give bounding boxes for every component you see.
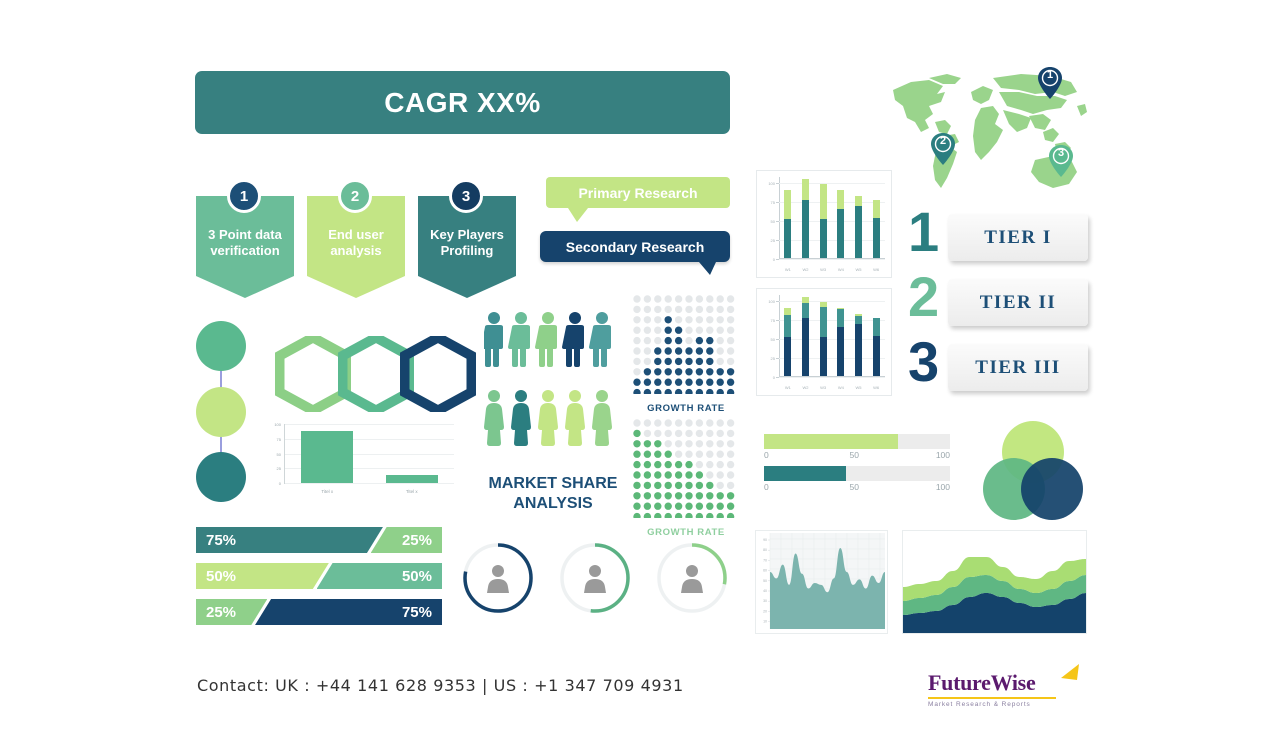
percent-row-1: 75% 25% (196, 527, 442, 553)
growth-dot-off (717, 471, 724, 478)
growth-dot-on (675, 337, 682, 344)
growth-dot-on (644, 492, 651, 499)
growth-dot-off (717, 482, 724, 489)
growth-dot-on (717, 368, 724, 375)
stacked-bar-chart-top: 0255075100W1W2W3W4W5W6 (756, 170, 892, 278)
tier-label-2: TIER II (980, 292, 1057, 314)
chart-bar-segment (855, 196, 862, 206)
donut-gauge-3 (652, 538, 732, 618)
growth-dot-off (706, 316, 713, 323)
growth-dot-on (675, 461, 682, 468)
step-card-1[interactable]: 1 3 Point data verification (196, 196, 294, 298)
chart-x-label: W6 (865, 385, 887, 390)
chart-gridline (779, 202, 885, 203)
growth-dot-on (706, 482, 713, 489)
map-pin-1[interactable]: 1 (1037, 66, 1063, 100)
chart-bar-segment (802, 303, 809, 317)
chart-y-axis (779, 177, 780, 259)
growth-rate-matrix-navy: GROWTH RATE (632, 294, 740, 414)
growth-dot-on (665, 379, 672, 386)
area-chart-stacked (902, 530, 1087, 634)
growth-dot-off (696, 419, 703, 426)
percent-row-2: 50% 50% (196, 563, 442, 589)
chart-y-label: 100 (758, 181, 775, 186)
svg-text:10: 10 (763, 620, 767, 624)
growth-dot-on (633, 492, 640, 499)
cagr-banner-title: CAGR XX% (384, 87, 540, 119)
growth-dot-off (727, 327, 734, 334)
growth-dot-on (696, 482, 703, 489)
scale-bar-2[interactable]: 0 50 100 (764, 466, 950, 495)
svg-text:20: 20 (763, 609, 767, 613)
growth-dot-off (727, 430, 734, 437)
world-map: 1 2 3 (885, 62, 1090, 197)
chart-bar-segment (784, 219, 791, 258)
growth-dot-off (696, 327, 703, 334)
chart-bar-segment (873, 336, 880, 376)
mini-chart-y-label: 0 (259, 481, 281, 486)
growth-dot-on (696, 337, 703, 344)
growth-dot-on (675, 389, 682, 394)
growth-dot-on (727, 513, 734, 518)
chart-bar-segment (820, 307, 827, 337)
growth-dot-off (727, 337, 734, 344)
growth-dot-on (633, 482, 640, 489)
chart-gridline (779, 320, 885, 321)
map-pin-number: 3 (1048, 147, 1074, 159)
growth-dot-off (654, 430, 661, 437)
growth-dot-off (665, 419, 672, 426)
scale-bar-1-tick-50: 50 (850, 450, 859, 460)
chain-circle-3 (196, 452, 246, 502)
stacked-bar-chart-top-plot: 0255075100W1W2W3W4W5W6 (779, 177, 885, 259)
growth-dot-off (665, 440, 672, 447)
donut-ring (458, 538, 538, 618)
growth-dot-on (665, 337, 672, 344)
growth-dot-on (696, 492, 703, 499)
tier-number-3: 3 (908, 334, 939, 390)
growth-dot-off (717, 419, 724, 426)
growth-dot-on (675, 358, 682, 365)
chart-bar (784, 308, 791, 376)
growth-dot-on (644, 440, 651, 447)
tier-row-2[interactable]: 2 TIER II (908, 279, 1088, 326)
person-icon-female (511, 390, 531, 446)
chart-bar-segment (784, 315, 791, 336)
tier-plate-3: TIER III (948, 344, 1088, 391)
chain-circle-1 (196, 321, 246, 371)
growth-dot-off (727, 419, 734, 426)
growth-dot-off (706, 327, 713, 334)
chart-gridline (779, 377, 885, 378)
chart-bar-segment (802, 200, 809, 258)
growth-dot-off (675, 430, 682, 437)
growth-dot-off (654, 295, 661, 302)
chart-y-tick (776, 320, 779, 321)
chart-y-tick (776, 240, 779, 241)
growth-dot-on (727, 503, 734, 510)
tier-row-3[interactable]: 3 TIER III (908, 344, 1088, 391)
growth-dot-on (685, 461, 692, 468)
donut-ring (555, 538, 635, 618)
growth-dot-off (654, 419, 661, 426)
growth-dot-on (644, 513, 651, 518)
area-chart-single: 908070605040302010 (755, 530, 888, 634)
scale-bar-1-tick-0: 0 (764, 450, 769, 460)
svg-text:70: 70 (763, 558, 767, 562)
chart-bar-segment (820, 184, 827, 219)
chart-y-label: 75 (758, 318, 775, 323)
mini-chart-y-label: 25 (259, 466, 281, 471)
growth-dot-on (696, 358, 703, 365)
growth-dot-on (717, 389, 724, 394)
growth-dot-off (665, 430, 672, 437)
chart-y-label: 25 (758, 356, 775, 361)
growth-dot-off (654, 337, 661, 344)
step-card-3[interactable]: 3 Key Players Profiling (418, 196, 516, 298)
growth-dot-off (633, 306, 640, 313)
chart-bar-segment (873, 200, 880, 217)
stacked-bar-chart-bottom: 0255075100W1W2W3W4W5W6 (756, 288, 892, 396)
growth-dot-off (706, 451, 713, 458)
growth-dot-on (706, 337, 713, 344)
chart-bar (837, 190, 844, 258)
growth-dot-off (727, 306, 734, 313)
growth-dot-off (654, 327, 661, 334)
tier-number-1: 1 (908, 204, 939, 260)
growth-dot-on (665, 471, 672, 478)
growth-dot-on (654, 368, 661, 375)
growth-dot-off (644, 430, 651, 437)
growth-dot-off (644, 337, 651, 344)
growth-rate-matrix-green: GROWTH RATE (632, 418, 740, 538)
growth-dot-off (644, 316, 651, 323)
mini-chart-y-label: 50 (259, 452, 281, 457)
growth-dot-off (633, 316, 640, 323)
tier-label-1: TIER I (984, 227, 1052, 249)
chart-bar (837, 308, 844, 376)
chart-bar (873, 200, 880, 258)
growth-dot-on (654, 503, 661, 510)
growth-dot-off (727, 358, 734, 365)
growth-dot-on (696, 389, 703, 394)
chart-gridline (779, 221, 885, 222)
growth-dot-on (727, 379, 734, 386)
growth-dot-off (727, 440, 734, 447)
growth-dot-on (665, 451, 672, 458)
growth-dot-off (633, 295, 640, 302)
percent-row-3-right: 75% (255, 599, 442, 625)
chart-gridline (779, 259, 885, 260)
growth-dot-on (633, 461, 640, 468)
step-badge-1: 1 (227, 179, 261, 213)
growth-dot-on (706, 492, 713, 499)
scale-bar-1[interactable]: 0 50 100 (764, 434, 950, 463)
user-icon (584, 565, 606, 593)
chart-bar (873, 318, 880, 376)
growth-dot-on (675, 471, 682, 478)
growth-dot-on (665, 389, 672, 394)
mini-bar-chart: 1007550250Titel xTitel x (258, 424, 454, 498)
chart-gridline (779, 301, 885, 302)
market-share-title: MARKET SHARE ANALYSIS (455, 474, 651, 514)
svg-text:50: 50 (763, 579, 767, 583)
percent-row-2-left: 50% (196, 563, 329, 589)
percent-row-1-right: 25% (371, 527, 442, 553)
step-badge-3: 3 (449, 179, 483, 213)
mini-bar-chart-plot: 1007550250Titel xTitel x (284, 424, 454, 484)
growth-dot-off (717, 358, 724, 365)
growth-dot-on (665, 503, 672, 510)
scale-bar-1-ticks: 0 50 100 (764, 450, 950, 463)
person-icon-male (562, 312, 584, 367)
growth-dot-off (685, 295, 692, 302)
chart-y-tick (776, 259, 779, 260)
svg-text:40: 40 (763, 589, 767, 593)
growth-dot-on (644, 451, 651, 458)
growth-dot-on (654, 440, 661, 447)
growth-dot-on (633, 389, 640, 394)
chart-y-tick (776, 221, 779, 222)
map-pin-number: 1 (1037, 69, 1063, 81)
growth-dot-on (633, 430, 640, 437)
percent-row-3-left: 25% (196, 599, 267, 625)
mini-chart-x-label: Titel x (370, 489, 455, 494)
chart-bar (784, 190, 791, 258)
growth-dot-on (696, 347, 703, 354)
growth-dot-on (644, 503, 651, 510)
growth-dot-off (706, 306, 713, 313)
step-badge-2: 2 (338, 179, 372, 213)
scale-bar-2-fill (764, 466, 846, 481)
growth-dot-on (675, 327, 682, 334)
growth-dot-on (685, 482, 692, 489)
growth-dot-off (644, 347, 651, 354)
growth-dot-off (696, 295, 703, 302)
growth-dot-on (654, 461, 661, 468)
chart-bar-segment (855, 314, 862, 316)
growth-dot-on (633, 440, 640, 447)
growth-dot-on (644, 461, 651, 468)
map-pin-number: 2 (930, 135, 956, 147)
chart-bar-segment (784, 308, 791, 316)
growth-dot-off (644, 358, 651, 365)
growth-dot-on (654, 379, 661, 386)
growth-dot-on (696, 503, 703, 510)
growth-dot-off (696, 440, 703, 447)
chart-gridline (779, 240, 885, 241)
chart-bar-segment (837, 190, 844, 210)
chart-y-label: 50 (758, 219, 775, 224)
chart-y-label: 100 (758, 299, 775, 304)
growth-dot-off (717, 430, 724, 437)
people-icon-group (484, 312, 624, 472)
map-pin-3[interactable]: 3 (1048, 144, 1074, 178)
stacked-bar-chart-bottom-plot: 0255075100W1W2W3W4W5W6 (779, 295, 885, 377)
growth-dot-on (665, 358, 672, 365)
growth-dot-on (644, 379, 651, 386)
tier-number-2: 2 (908, 269, 939, 325)
chart-bar-segment (855, 206, 862, 258)
growth-dot-off (685, 430, 692, 437)
growth-dot-off (717, 461, 724, 468)
scale-bar-2-tick-0: 0 (764, 482, 769, 492)
growth-dot-on (685, 513, 692, 518)
secondary-research-bubble[interactable]: Secondary Research (540, 231, 730, 262)
chart-bar (855, 314, 862, 376)
chart-gridline (779, 339, 885, 340)
growth-dot-on (665, 316, 672, 323)
growth-dot-on (717, 503, 724, 510)
growth-dot-off (727, 347, 734, 354)
chart-bar-segment (820, 337, 827, 376)
scale-bar-1-tick-100: 100 (936, 450, 950, 460)
chart-bar (820, 184, 827, 258)
user-icon (681, 565, 703, 593)
growth-dot-on (654, 482, 661, 489)
logo-tagline: Market Research & Reports (928, 701, 1083, 708)
growth-dot-on (675, 482, 682, 489)
growth-dot-off (633, 368, 640, 375)
growth-dot-on (665, 492, 672, 499)
scale-bar-2-track (764, 466, 950, 481)
primary-research-label: Primary Research (578, 185, 697, 201)
growth-dot-on (717, 379, 724, 386)
growth-dot-off (696, 461, 703, 468)
cagr-banner: CAGR XX% (195, 71, 730, 134)
scale-bar-2-tick-100: 100 (936, 482, 950, 492)
growth-dot-on (685, 389, 692, 394)
growth-dot-off (717, 327, 724, 334)
growth-dot-off (675, 306, 682, 313)
chart-y-label: 50 (758, 337, 775, 342)
chart-bar-segment (837, 327, 844, 376)
growth-dot-off (654, 306, 661, 313)
growth-dot-on (654, 513, 661, 518)
chart-bar-segment (802, 318, 809, 376)
growth-dot-off (727, 482, 734, 489)
growth-dot-on (706, 513, 713, 518)
chart-y-tick (776, 377, 779, 378)
growth-dot-on (644, 389, 651, 394)
growth-dot-off (727, 471, 734, 478)
growth-dot-off (717, 337, 724, 344)
growth-dot-off (717, 306, 724, 313)
chart-y-label: 25 (758, 238, 775, 243)
futurewise-logo[interactable]: FutureWise Market Research & Reports (928, 670, 1083, 714)
tier-plate-2: TIER II (948, 279, 1088, 326)
growth-dot-on (665, 327, 672, 334)
person-icon-female (484, 390, 504, 446)
growth-dot-off (675, 440, 682, 447)
user-icon (487, 565, 509, 593)
percent-row-3: 25% 75% (196, 599, 442, 625)
person-icon-female (592, 390, 612, 446)
growth-dot-off (706, 419, 713, 426)
person-icon-female (565, 390, 585, 446)
growth-dot-on (654, 347, 661, 354)
svg-text:30: 30 (763, 599, 767, 603)
logo-divider (928, 697, 1056, 699)
logo-name: FutureWise (928, 670, 1035, 695)
growth-dot-off (685, 451, 692, 458)
growth-dot-off (696, 430, 703, 437)
primary-research-bubble[interactable]: Primary Research (546, 177, 730, 208)
growth-dot-off (727, 451, 734, 458)
chart-bar-segment (820, 219, 827, 258)
chart-bar-segment (784, 337, 791, 376)
growth-dot-off (644, 327, 651, 334)
percent-row-1-left: 75% (196, 527, 383, 553)
secondary-research-label: Secondary Research (566, 239, 705, 255)
growth-dot-on (654, 492, 661, 499)
chart-bar (855, 196, 862, 258)
donut-ring (652, 538, 732, 618)
growth-dot-on (633, 503, 640, 510)
growth-dot-off (685, 316, 692, 323)
chart-bar-segment (873, 318, 880, 335)
chart-gridline (779, 358, 885, 359)
chart-bar (820, 302, 827, 376)
growth-dot-on (675, 503, 682, 510)
tier-label-3: TIER III (975, 357, 1060, 379)
step-card-2[interactable]: 2 End user analysis (307, 196, 405, 298)
chain-circle-2 (196, 387, 246, 437)
chart-bar-segment (820, 302, 827, 307)
growth-dot-on (633, 513, 640, 518)
svg-text:80: 80 (763, 548, 767, 552)
growth-dot-off (685, 337, 692, 344)
person-icon-male (508, 312, 530, 367)
growth-dot-off (727, 316, 734, 323)
growth-dot-off (717, 316, 724, 323)
person-icon-male (589, 312, 611, 367)
svg-text:60: 60 (763, 569, 767, 573)
growth-dot-on (696, 368, 703, 375)
chart-bar (802, 179, 809, 258)
chart-bar-segment (784, 190, 791, 219)
chart-bar (802, 297, 809, 376)
growth-dot-off (685, 306, 692, 313)
growth-dot-on (675, 492, 682, 499)
mini-chart-bar (301, 431, 353, 483)
growth-dot-off (675, 419, 682, 426)
person-icon-female (538, 390, 558, 446)
growth-dot-on (644, 482, 651, 489)
chart-bar-segment (873, 218, 880, 258)
contact-info: Contact: UK : +44 141 628 9353 | US : +1… (197, 676, 684, 695)
growth-dot-on (675, 368, 682, 375)
growth-dot-on (685, 347, 692, 354)
growth-dot-off (633, 358, 640, 365)
growth-dot-off (644, 419, 651, 426)
svg-text:90: 90 (763, 538, 767, 542)
infographic-canvas: CAGR XX% 1 3 Point data verification 2 E… (0, 0, 1280, 731)
growth-dot-on (685, 503, 692, 510)
scale-bar-2-ticks: 0 50 100 (764, 482, 950, 495)
growth-dot-on (727, 368, 734, 375)
growth-dot-off (706, 430, 713, 437)
growth-rate-label-green: GROWTH RATE (632, 527, 740, 538)
growth-dot-off (633, 337, 640, 344)
chart-bar-segment (802, 179, 809, 200)
map-pin-2[interactable]: 2 (930, 132, 956, 166)
tier-plate-1: TIER I (948, 214, 1088, 261)
step-tail-3 (418, 276, 516, 298)
growth-dot-on (644, 471, 651, 478)
tier-row-1[interactable]: 1 TIER I (908, 214, 1088, 261)
growth-dot-off (665, 306, 672, 313)
